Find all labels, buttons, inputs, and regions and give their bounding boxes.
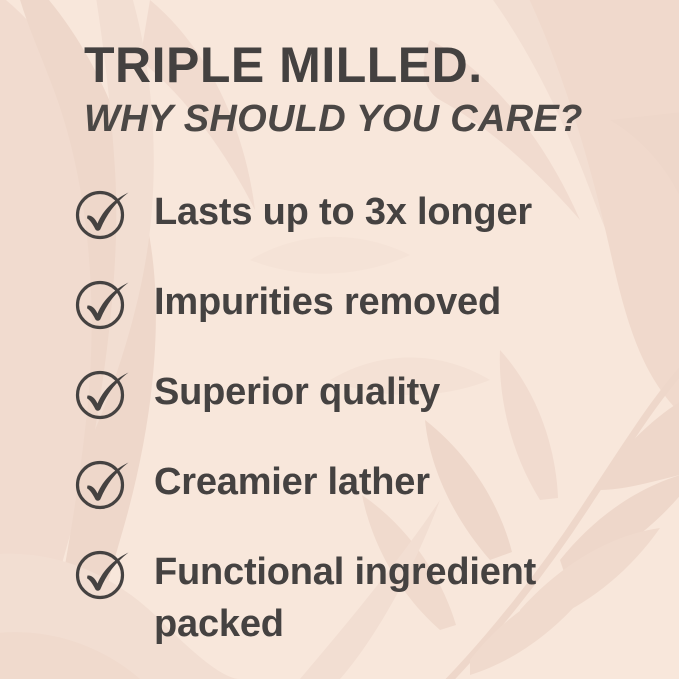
check-circle-icon xyxy=(72,276,134,332)
list-item: Impurities removed xyxy=(72,276,662,332)
list-item: Functional ingredient packed xyxy=(72,546,662,650)
list-item: Creamier lather xyxy=(72,456,662,512)
list-item-label: Superior quality xyxy=(154,366,662,418)
check-circle-icon xyxy=(72,186,134,242)
list-item: Lasts up to 3x longer xyxy=(72,186,662,242)
check-circle-icon xyxy=(72,456,134,512)
check-circle-icon xyxy=(72,366,134,422)
benefit-list: Lasts up to 3x longer Impurities removed… xyxy=(72,186,662,650)
page-subtitle: WHY SHOULD YOU CARE? xyxy=(84,100,644,138)
list-item-label: Impurities removed xyxy=(154,276,662,328)
list-item-label: Functional ingredient packed xyxy=(154,546,662,650)
list-item: Superior quality xyxy=(72,366,662,422)
heading-block: TRIPLE MILLED. WHY SHOULD YOU CARE? xyxy=(84,40,644,138)
list-item-label: Creamier lather xyxy=(154,456,662,508)
check-circle-icon xyxy=(72,546,134,602)
page-title: TRIPLE MILLED. xyxy=(84,40,644,90)
poster-canvas: TRIPLE MILLED. WHY SHOULD YOU CARE? Last… xyxy=(0,0,679,679)
list-item-label: Lasts up to 3x longer xyxy=(154,186,662,238)
